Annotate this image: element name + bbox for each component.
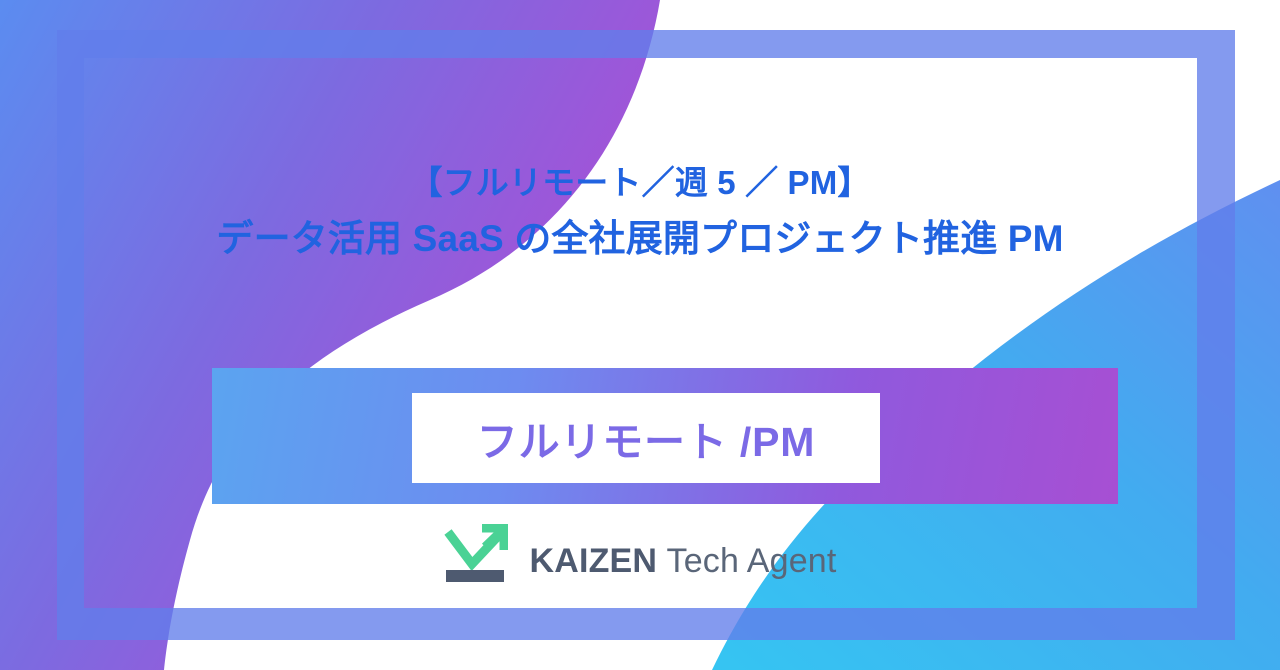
- brand-name-bold: KAIZEN: [530, 542, 658, 580]
- page-title: 【フルリモート／週 5 ／ PM】 データ活用 SaaS の全社展開プロジェクト…: [0, 160, 1280, 265]
- badge-inner-panel: フルリモート /PM: [412, 393, 880, 483]
- growth-arrow-icon: [444, 520, 516, 584]
- badge-label: フルリモート /PM: [477, 408, 815, 468]
- headline-line-1: 【フルリモート／週 5 ／ PM】: [0, 160, 1280, 207]
- brand-logo: KAIZEN Tech Agent: [0, 520, 1280, 586]
- brand-name-light: Tech Agent: [667, 542, 837, 580]
- brand-wordmark: KAIZEN Tech Agent: [530, 544, 837, 578]
- highlight-badge: フルリモート /PM: [212, 368, 1118, 504]
- poster-canvas: 【フルリモート／週 5 ／ PM】 データ活用 SaaS の全社展開プロジェクト…: [0, 0, 1280, 670]
- headline-line-2: データ活用 SaaS の全社展開プロジェクト推進 PM: [0, 213, 1280, 266]
